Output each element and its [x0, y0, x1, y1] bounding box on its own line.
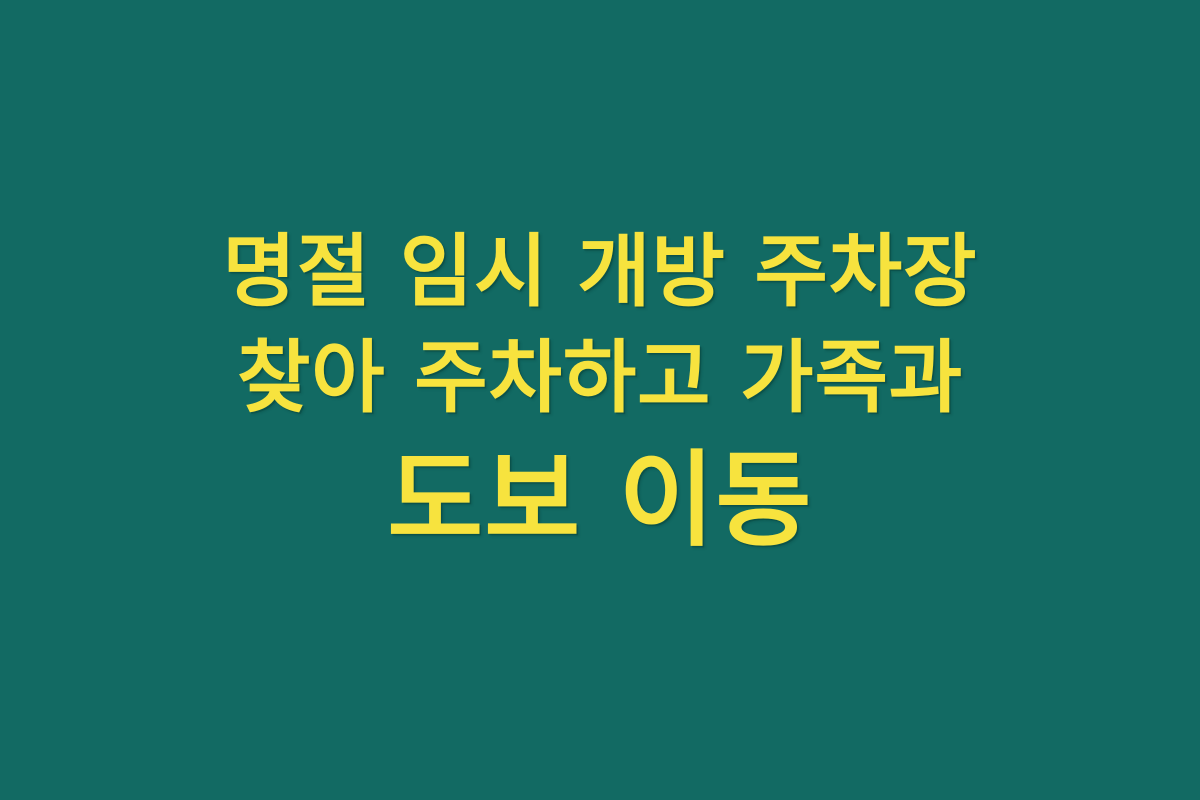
banner-background: 명절 임시 개방 주차장 찾아 주차하고 가족과 도보 이동	[0, 0, 1200, 800]
headline-line-3: 도보 이동	[0, 431, 1200, 569]
headline-text-block: 명절 임시 개방 주차장 찾아 주차하고 가족과 도보 이동	[0, 219, 1200, 569]
headline-line-1: 명절 임시 개방 주차장	[0, 219, 1200, 325]
headline-line-2: 찾아 주차하고 가족과	[0, 325, 1200, 431]
